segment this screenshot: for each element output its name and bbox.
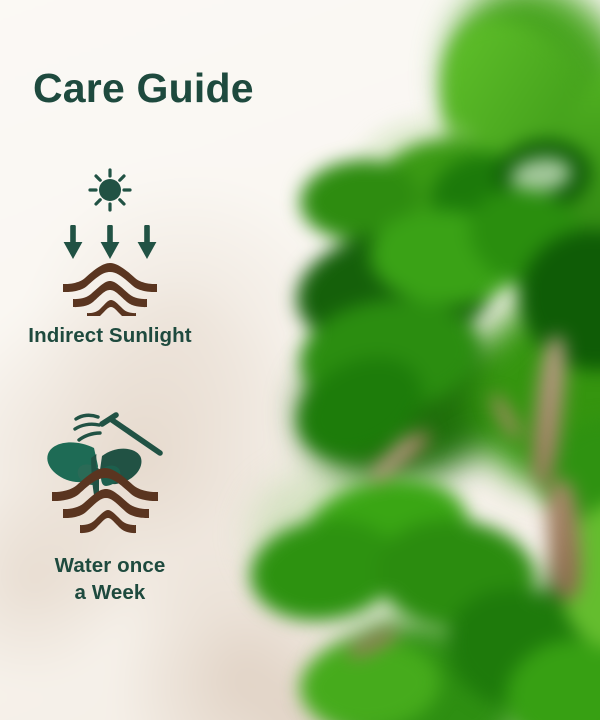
watering-can-spout-icon xyxy=(102,415,160,453)
sun-over-soil-icon xyxy=(55,168,165,316)
soil-waves-icon xyxy=(63,263,157,316)
care-item-label: Water once a Week xyxy=(0,552,220,607)
sprout-icon xyxy=(47,442,141,500)
down-arrow-icon xyxy=(64,225,157,259)
care-item-water-once-a-week: Water once a Week xyxy=(0,408,220,607)
care-guide-page: Care Guide xyxy=(0,0,600,720)
watering-sprout-icon xyxy=(42,408,178,534)
care-item-label: Indirect Sunlight xyxy=(0,322,220,349)
care-guide-content: Care Guide xyxy=(0,0,600,720)
water-spray-icon xyxy=(75,415,100,440)
sun-icon xyxy=(90,170,130,210)
care-item-indirect-sunlight: Indirect Sunlight xyxy=(0,168,220,349)
page-title: Care Guide xyxy=(33,65,254,112)
